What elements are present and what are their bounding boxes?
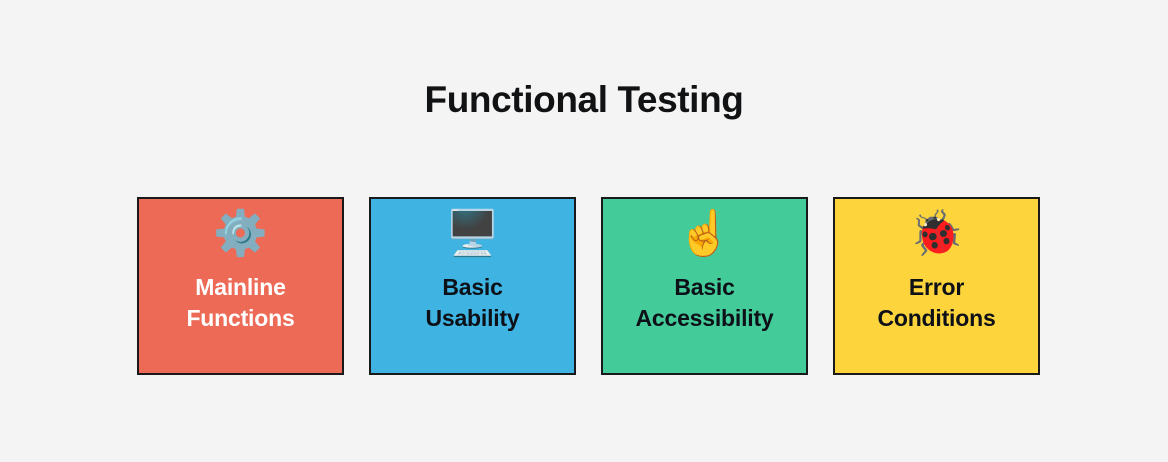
card-basic-usability[interactable]: 🖥️ Basic Usability xyxy=(369,197,576,375)
gear-icon: ⚙️ xyxy=(213,208,268,260)
card-label: Mainline Functions xyxy=(139,272,342,335)
card-label: Basic Usability xyxy=(371,272,574,335)
card-label-line2: Accessibility xyxy=(607,303,802,334)
card-mainline-functions[interactable]: ⚙️ Mainline Functions xyxy=(137,197,344,375)
pointing-up-finger-icon: ☝️ xyxy=(677,208,732,260)
card-label-line1: Error xyxy=(839,272,1034,303)
desktop-computer-icon: 🖥️ xyxy=(445,208,500,260)
card-label-line1: Basic xyxy=(607,272,802,303)
card-label-line1: Basic xyxy=(375,272,570,303)
slide-canvas: Functional Testing ⚙️ Mainline Functions… xyxy=(0,0,1168,462)
card-label-line2: Usability xyxy=(375,303,570,334)
category-card-row: ⚙️ Mainline Functions 🖥️ Basic Usability… xyxy=(137,197,1040,375)
lady-beetle-bug-icon: 🐞 xyxy=(909,208,964,260)
card-label: Basic Accessibility xyxy=(603,272,806,335)
card-label-line2: Functions xyxy=(143,303,338,334)
card-label-line2: Conditions xyxy=(839,303,1034,334)
card-label: Error Conditions xyxy=(835,272,1038,335)
card-basic-accessibility[interactable]: ☝️ Basic Accessibility xyxy=(601,197,808,375)
page-title: Functional Testing xyxy=(0,78,1168,122)
card-error-conditions[interactable]: 🐞 Error Conditions xyxy=(833,197,1040,375)
card-label-line1: Mainline xyxy=(143,272,338,303)
